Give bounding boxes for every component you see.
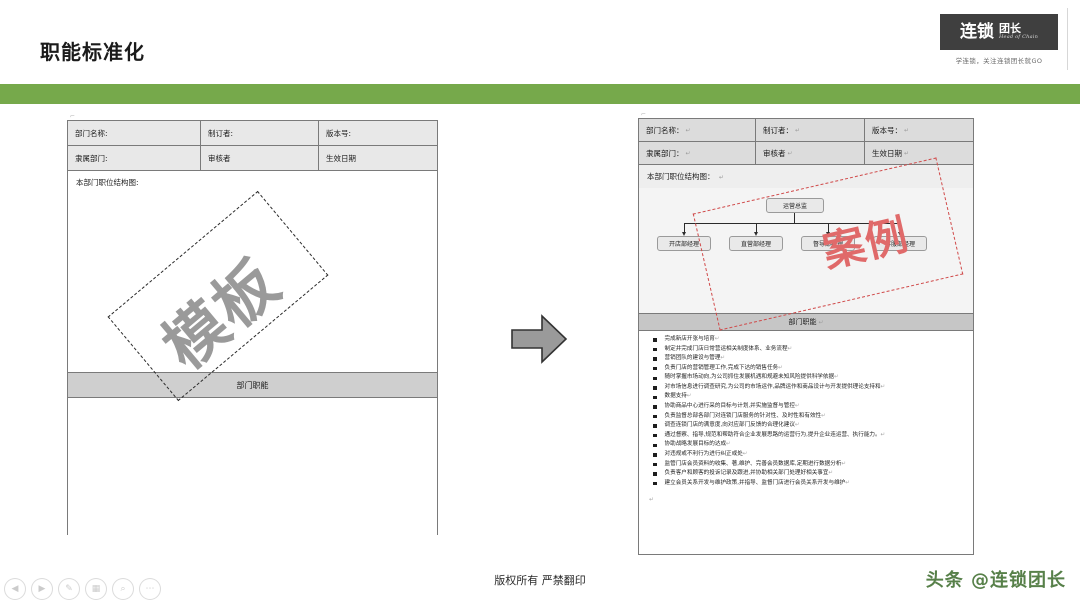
bullet-square-icon bbox=[653, 424, 657, 428]
duty-text: 随时掌握市场动向,为公司抓住发展机遇和规避未知风险提供科学依据↵ bbox=[665, 373, 839, 381]
field-author: 制订者: bbox=[201, 121, 319, 145]
field-parent-department: 隶属部门： ↵ bbox=[639, 142, 756, 164]
accent-bar bbox=[0, 84, 1080, 104]
bullet-square-icon bbox=[653, 453, 657, 457]
paragraph-mark: ↵ bbox=[881, 384, 886, 390]
paragraph-mark: ↵ bbox=[841, 461, 846, 467]
play-slide-button[interactable]: ▶ bbox=[31, 578, 53, 600]
field-version: 版本号： ↵ bbox=[865, 119, 973, 141]
paragraph-mark: ↵ bbox=[686, 127, 691, 134]
org-connector bbox=[684, 223, 685, 232]
duty-item: 负责客户和顾客的投诉记录及跟进,并协助相关部门处理好相关事宜↵ bbox=[649, 469, 967, 477]
all-slides-button[interactable]: ▦ bbox=[85, 578, 107, 600]
duty-text: 通过督察、指导,规范和帮助符合企业发展思路的运营行为,提升企业连运营、执行能力。… bbox=[665, 431, 886, 439]
field-label: 隶属部门： bbox=[646, 148, 684, 159]
duty-text: 建立会员关系开发与维护政策,并指导、监督门店进行会员关系开发与维护↵ bbox=[665, 479, 850, 487]
paragraph-mark: ↵ bbox=[687, 393, 692, 399]
logo-divider bbox=[1067, 8, 1068, 70]
paragraph-mark: ↵ bbox=[904, 127, 909, 134]
more-options-button[interactable]: ⋯ bbox=[139, 578, 161, 600]
bullet-square-icon bbox=[653, 472, 657, 476]
previous-slide-icon: ◀ bbox=[12, 584, 19, 594]
duty-item: 负责门店的营销管理工作,完成下达的销售任务↵ bbox=[649, 364, 967, 372]
bullet-square-icon bbox=[653, 338, 657, 342]
paragraph-mark: ↵ bbox=[720, 355, 725, 361]
duties-band-label: 部门职能 bbox=[68, 372, 437, 398]
field-effective-date: 生效日期 bbox=[319, 146, 437, 170]
field-department-name: 部门名称： ↵ bbox=[639, 119, 756, 141]
table-row: 隶属部门: 审核者 生效日期 bbox=[68, 146, 437, 171]
paragraph-mark: ↵ bbox=[821, 413, 826, 419]
slide-header: 职能标准化 连锁 团长 Head of Chain 学连锁，关注连锁团长就GO bbox=[0, 0, 1080, 78]
duty-item: 调查连锁门店的满意度,向对应部门反馈的合理化建议↵ bbox=[649, 421, 967, 429]
org-connector bbox=[756, 223, 757, 232]
org-chart: 运营总监 开店部经理 直营部经理 督导部经理 客服部经理 bbox=[639, 188, 973, 313]
duty-text: 负责门店的营销管理工作,完成下达的销售任务↵ bbox=[665, 364, 783, 372]
org-connector bbox=[794, 213, 795, 223]
paragraph-mark: ↵ bbox=[818, 319, 823, 326]
paragraph-mark: ↵ bbox=[719, 174, 724, 181]
bullet-square-icon bbox=[653, 377, 657, 381]
copyright-note: 版权所有 严禁翻印 bbox=[0, 572, 1080, 588]
org-node-supervision-manager: 督导部经理 bbox=[801, 236, 855, 251]
duty-item: 通过督察、指导,规范和帮助符合企业发展思路的运营行为,提升企业连运营、执行能力。… bbox=[649, 431, 967, 439]
paragraph-mark: ↵ bbox=[639, 492, 973, 503]
field-label: 审核者 bbox=[763, 148, 786, 159]
duty-item: 营销团队的建设与管理↵ bbox=[649, 354, 967, 362]
zoom-tool-icon: ⌕ bbox=[120, 584, 125, 594]
pen-tool-icon: ✎ bbox=[65, 584, 73, 594]
arrow-right-icon bbox=[508, 308, 570, 374]
org-node-root: 运营总监 bbox=[766, 198, 824, 213]
bullet-square-icon bbox=[653, 357, 657, 361]
bullet-square-icon bbox=[653, 405, 657, 409]
paragraph-mark: ↵ bbox=[778, 365, 783, 371]
duty-item: 数据支持↵ bbox=[649, 392, 967, 400]
field-department-name: 部门名称: bbox=[68, 121, 201, 145]
duty-item: 对市场信息进行调查研究,为公司的市场运作,品牌运作和商品设计与开发提供理论支持和… bbox=[649, 383, 967, 391]
duty-text: 负责客户和顾客的投诉记录及跟进,并协助相关部门处理好相关事宜↵ bbox=[665, 469, 834, 477]
paragraph-mark: ↵ bbox=[795, 422, 800, 428]
paragraph-mark: ↵ bbox=[743, 451, 748, 457]
field-author: 制订者： ↵ bbox=[756, 119, 865, 141]
duty-item: 负责监督总部各部门对连锁门店服务的针对性、及时性和有效性↵ bbox=[649, 412, 967, 420]
duty-item: 监管门店会员资料的收集、著,维护、完善会员数据库,定期进行数据分析↵ bbox=[649, 460, 967, 468]
all-slides-icon: ▦ bbox=[92, 584, 101, 594]
structure-chart-label: 本部门职位结构图： ↵ bbox=[639, 165, 973, 188]
duty-item: 建立会员关系开发与维护政策,并指导、监督门店进行会员关系开发与维护↵ bbox=[649, 479, 967, 487]
duty-item: 完成新店开张与培育↵ bbox=[649, 335, 967, 343]
zoom-tool-button[interactable]: ⌕ bbox=[112, 578, 134, 600]
duty-item: 协助战略发展目标的达成↵ bbox=[649, 440, 967, 448]
doc-anchor-mark: ⌐ bbox=[641, 111, 646, 118]
paragraph-mark: ↵ bbox=[904, 150, 909, 157]
doc-anchor-mark: ⌐ bbox=[70, 113, 75, 120]
logo-english-text: Head of Chain bbox=[999, 35, 1038, 41]
toutiao-watermark: 头条 @连锁团长 bbox=[926, 566, 1066, 592]
table-row: 部门名称： ↵ 制订者： ↵ 版本号： ↵ bbox=[639, 119, 973, 142]
org-connector bbox=[684, 223, 901, 224]
bullet-square-icon bbox=[653, 386, 657, 390]
duty-text: 完成新店开张与培育↵ bbox=[665, 335, 720, 343]
structure-chart-area: 运营总监 开店部经理 直营部经理 督导部经理 客服部经理 bbox=[639, 188, 973, 313]
duties-area-empty bbox=[68, 398, 437, 557]
paragraph-mark: ↵ bbox=[834, 374, 839, 380]
bullet-square-icon bbox=[653, 463, 657, 467]
paragraph-mark: ↵ bbox=[829, 470, 834, 476]
logo-secondary-group: 团长 Head of Chain bbox=[999, 23, 1038, 40]
structure-chart-area-empty bbox=[68, 194, 437, 372]
field-effective-date: 生效日期 ↵ bbox=[865, 142, 973, 164]
duty-text: 对违规或不利行为进行纠正或处↵ bbox=[665, 450, 748, 458]
bullet-square-icon bbox=[653, 415, 657, 419]
field-label: 制订者： bbox=[763, 125, 793, 136]
duty-text: 对市场信息进行调查研究,为公司的市场运作,品牌运作和商品设计与开发提供理论支持和… bbox=[665, 383, 886, 391]
table-row: 部门名称: 制订者: 版本号: bbox=[68, 121, 437, 146]
field-label: 版本号： bbox=[872, 125, 902, 136]
bullet-square-icon bbox=[653, 396, 657, 400]
org-connector bbox=[900, 223, 901, 232]
paragraph-mark: ↵ bbox=[845, 480, 850, 486]
duty-item: 协助商品中心进行采的目标与计划,并实施监督与管控↵ bbox=[649, 402, 967, 410]
logo-main-text: 连锁 bbox=[960, 24, 994, 41]
bullet-square-icon bbox=[653, 444, 657, 448]
table-row: 隶属部门： ↵ 审核者 ↵ 生效日期 ↵ bbox=[639, 142, 973, 165]
duty-text: 制定并完成门店日常营运相关制度体系、业务流程↵ bbox=[665, 345, 793, 353]
duties-band-label: 部门职能 ↵ bbox=[639, 313, 973, 331]
duty-text: 协助战略发展目标的达成↵ bbox=[665, 440, 731, 448]
more-options-icon: ⋯ bbox=[146, 584, 155, 594]
duty-text: 负责监督总部各部门对连锁门店服务的针对性、及时性和有效性↵ bbox=[665, 412, 826, 420]
template-document: ⌐ 部门名称: 制订者: 版本号: 隶属部门: 审核者 生效日期 本部门职位结构… bbox=[67, 120, 438, 535]
duty-text: 监管门店会员资料的收集、著,维护、完善会员数据库,定期进行数据分析↵ bbox=[665, 460, 847, 468]
org-node-store-opening-manager: 开店部经理 bbox=[657, 236, 711, 251]
paragraph-mark: ↵ bbox=[788, 346, 793, 352]
example-document: ⌐ 部门名称： ↵ 制订者： ↵ 版本号： ↵ 隶属部门： ↵ 审核者 ↵ 生效… bbox=[638, 118, 974, 555]
paragraph-mark: ↵ bbox=[788, 150, 793, 157]
duty-text: 营销团队的建设与管理↵ bbox=[665, 354, 726, 362]
field-label: 部门名称： bbox=[646, 125, 684, 136]
logo-tagline: 学连锁，关注连锁团长就GO bbox=[956, 55, 1043, 65]
bullet-square-icon bbox=[653, 434, 657, 438]
org-node-direct-sales-manager: 直营部经理 bbox=[729, 236, 783, 251]
bullet-square-icon bbox=[653, 367, 657, 371]
slideshow-controls[interactable]: ◀▶✎▦⌕⋯ bbox=[4, 578, 161, 600]
duty-text: 调查连锁门店的满意度,向对应部门反馈的合理化建议↵ bbox=[665, 421, 800, 429]
org-connector bbox=[828, 223, 829, 232]
duty-item: 随时掌握市场动向,为公司抓住发展机遇和规避未知风险提供科学依据↵ bbox=[649, 373, 967, 381]
field-label: 生效日期 bbox=[872, 148, 902, 159]
logo-badge: 连锁 团长 Head of Chain bbox=[940, 14, 1058, 50]
duties-list: 完成新店开张与培育↵制定并完成门店日常营运相关制度体系、业务流程↵营销团队的建设… bbox=[639, 331, 973, 492]
duty-text: 协助商品中心进行采的目标与计划,并实施监督与管控↵ bbox=[665, 402, 800, 410]
duty-item: 对违规或不利行为进行纠正或处↵ bbox=[649, 450, 967, 458]
page-title: 职能标准化 bbox=[40, 36, 145, 65]
paragraph-mark: ↵ bbox=[686, 150, 691, 157]
duty-item: 制定并完成门店日常营运相关制度体系、业务流程↵ bbox=[649, 345, 967, 353]
paragraph-mark: ↵ bbox=[795, 127, 800, 134]
bullet-square-icon bbox=[653, 482, 657, 486]
paragraph-mark: ↵ bbox=[726, 441, 731, 447]
pen-tool-button[interactable]: ✎ bbox=[58, 578, 80, 600]
duties-band-text: 部门职能 bbox=[788, 317, 816, 327]
brand-logo: 连锁 团长 Head of Chain 学连锁，关注连锁团长就GO bbox=[934, 14, 1064, 76]
paragraph-mark: ↵ bbox=[881, 432, 886, 438]
org-node-customer-service-manager: 客服部经理 bbox=[873, 236, 927, 251]
paragraph-mark: ↵ bbox=[795, 403, 800, 409]
field-reviewer: 审核者 ↵ bbox=[756, 142, 865, 164]
play-slide-icon: ▶ bbox=[39, 584, 46, 594]
previous-slide-button[interactable]: ◀ bbox=[4, 578, 26, 600]
duty-text: 数据支持↵ bbox=[665, 392, 692, 400]
field-parent-department: 隶属部门: bbox=[68, 146, 201, 170]
structure-chart-label-text: 本部门职位结构图： bbox=[647, 172, 715, 181]
field-reviewer: 审核者 bbox=[201, 146, 319, 170]
field-version: 版本号: bbox=[319, 121, 437, 145]
paragraph-mark: ↵ bbox=[715, 336, 720, 342]
bullet-square-icon bbox=[653, 348, 657, 352]
structure-chart-label: 本部门职位结构图: bbox=[68, 171, 437, 194]
